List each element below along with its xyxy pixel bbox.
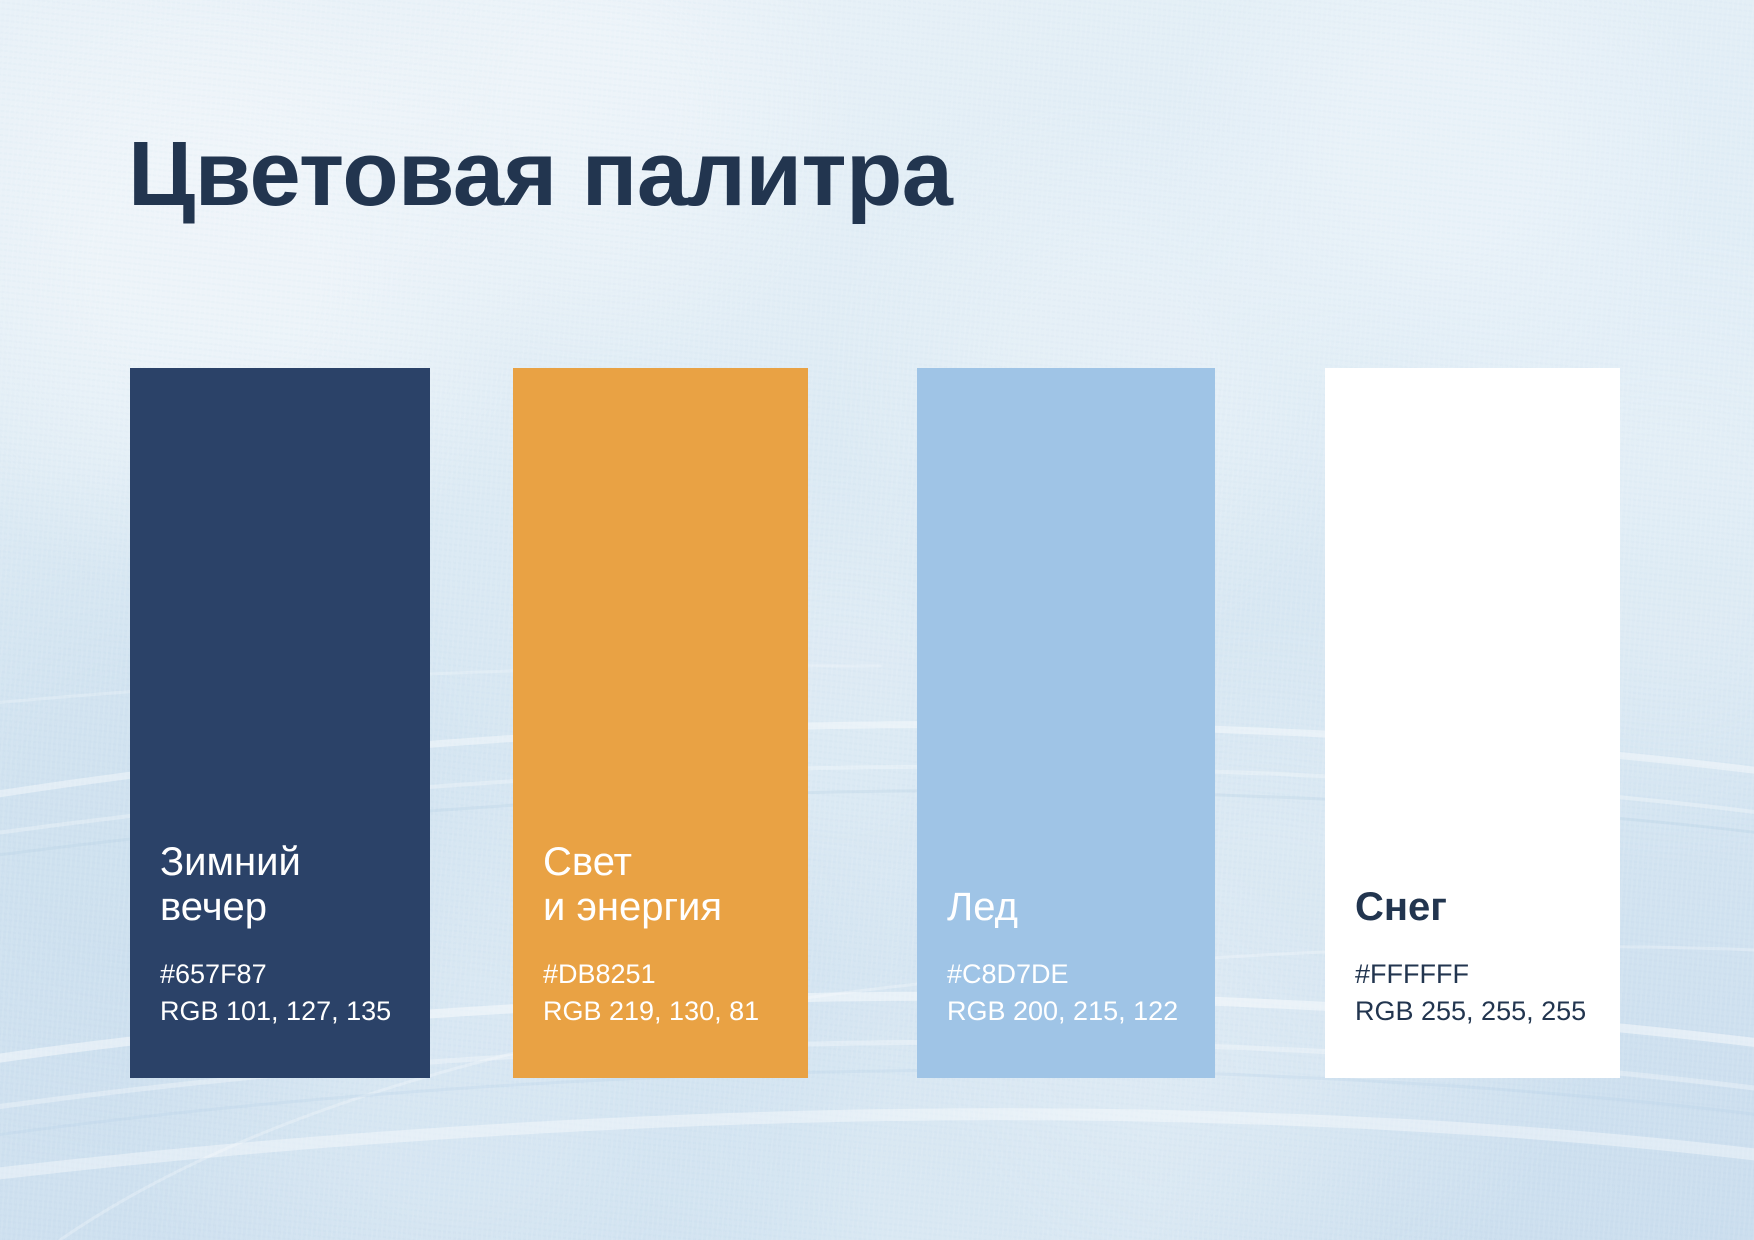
swatch-name: Снег [1355, 885, 1602, 930]
swatch-values: #657F87 RGB 101, 127, 135 [160, 956, 412, 1031]
swatch-name: Лед [947, 885, 1197, 930]
color-swatch[interactable]: Лед #C8D7DE RGB 200, 215, 122 [917, 368, 1215, 1078]
swatch-rgb: RGB 200, 215, 122 [947, 993, 1197, 1030]
color-swatch[interactable]: Зимний вечер #657F87 RGB 101, 127, 135 [130, 368, 430, 1078]
swatch-values: #DB8251 RGB 219, 130, 81 [543, 956, 790, 1031]
swatch-hex: #FFFFFF [1355, 956, 1602, 993]
swatch-hex: #DB8251 [543, 956, 790, 993]
swatch-values: #FFFFFF RGB 255, 255, 255 [1355, 956, 1602, 1031]
swatch-rgb: RGB 219, 130, 81 [543, 993, 790, 1030]
slide: Цветовая палитра Зимний вечер #657F87 RG… [0, 0, 1754, 1240]
swatch-rgb: RGB 255, 255, 255 [1355, 993, 1602, 1030]
swatch-hex: #657F87 [160, 956, 412, 993]
swatch-name: Зимний вечер [160, 840, 412, 930]
swatch-rgb: RGB 101, 127, 135 [160, 993, 412, 1030]
swatch-name: Свет и энергия [543, 840, 790, 930]
swatch-hex: #C8D7DE [947, 956, 1197, 993]
swatch-values: #C8D7DE RGB 200, 215, 122 [947, 956, 1197, 1031]
color-swatch[interactable]: Снег #FFFFFF RGB 255, 255, 255 [1325, 368, 1620, 1078]
page-title: Цветовая палитра [128, 128, 952, 220]
color-swatch[interactable]: Свет и энергия #DB8251 RGB 219, 130, 81 [513, 368, 808, 1078]
